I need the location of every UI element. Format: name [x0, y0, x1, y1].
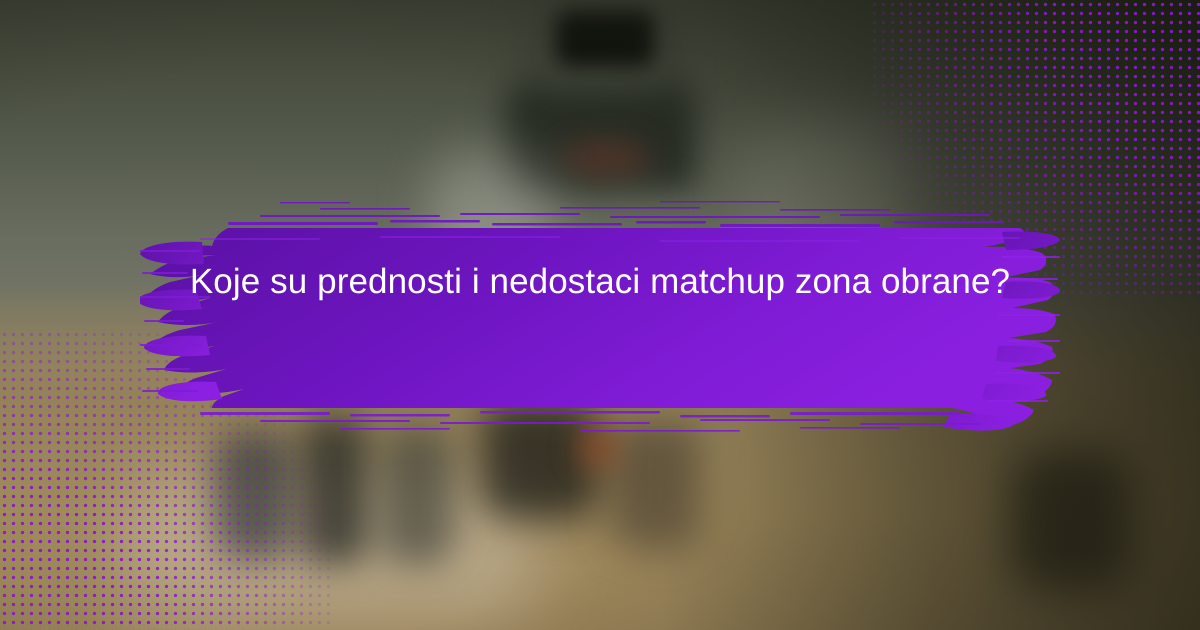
- brush-stroke-shape-icon: [140, 186, 1060, 444]
- headline-text: Koje su prednosti i nedostaci matchup zo…: [170, 255, 1030, 308]
- share-card: Koje su prednosti i nedostaci matchup zo…: [0, 0, 1200, 630]
- brush-stroke-banner: [140, 186, 1060, 444]
